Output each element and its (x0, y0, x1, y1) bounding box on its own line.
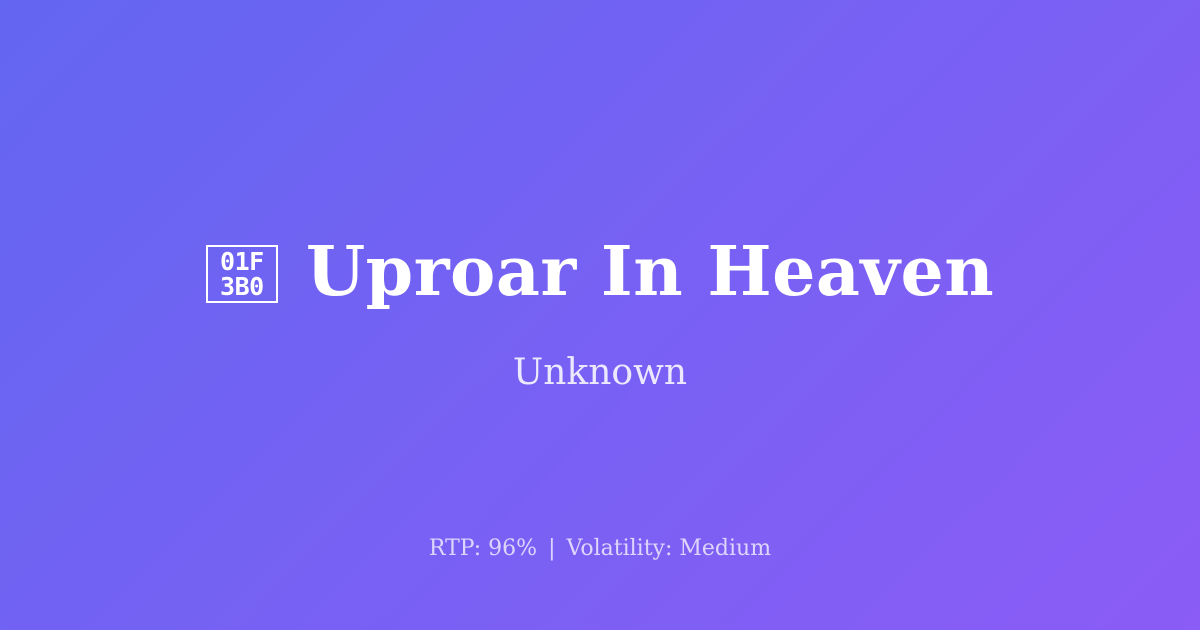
volatility-label: Volatility: Medium (567, 536, 772, 561)
hero-block: 01F 3B0 Uproar In Heaven Unknown (0, 236, 1200, 395)
rtp-label: RTP: 96% (429, 536, 537, 561)
slot-machine-icon: 01F 3B0 (206, 245, 278, 303)
codepoint-row-bottom: 3B0 (220, 274, 264, 300)
game-provider-subtitle: Unknown (513, 351, 687, 394)
meta-separator: | (544, 536, 559, 561)
game-stats-line: RTP: 96% | Volatility: Medium (0, 536, 1200, 562)
title-row: 01F 3B0 Uproar In Heaven (60, 236, 1140, 309)
page-title: Uproar In Heaven (306, 236, 994, 309)
game-og-card: 01F 3B0 Uproar In Heaven Unknown RTP: 96… (0, 0, 1200, 630)
codepoint-row-top: 01F (220, 249, 264, 275)
